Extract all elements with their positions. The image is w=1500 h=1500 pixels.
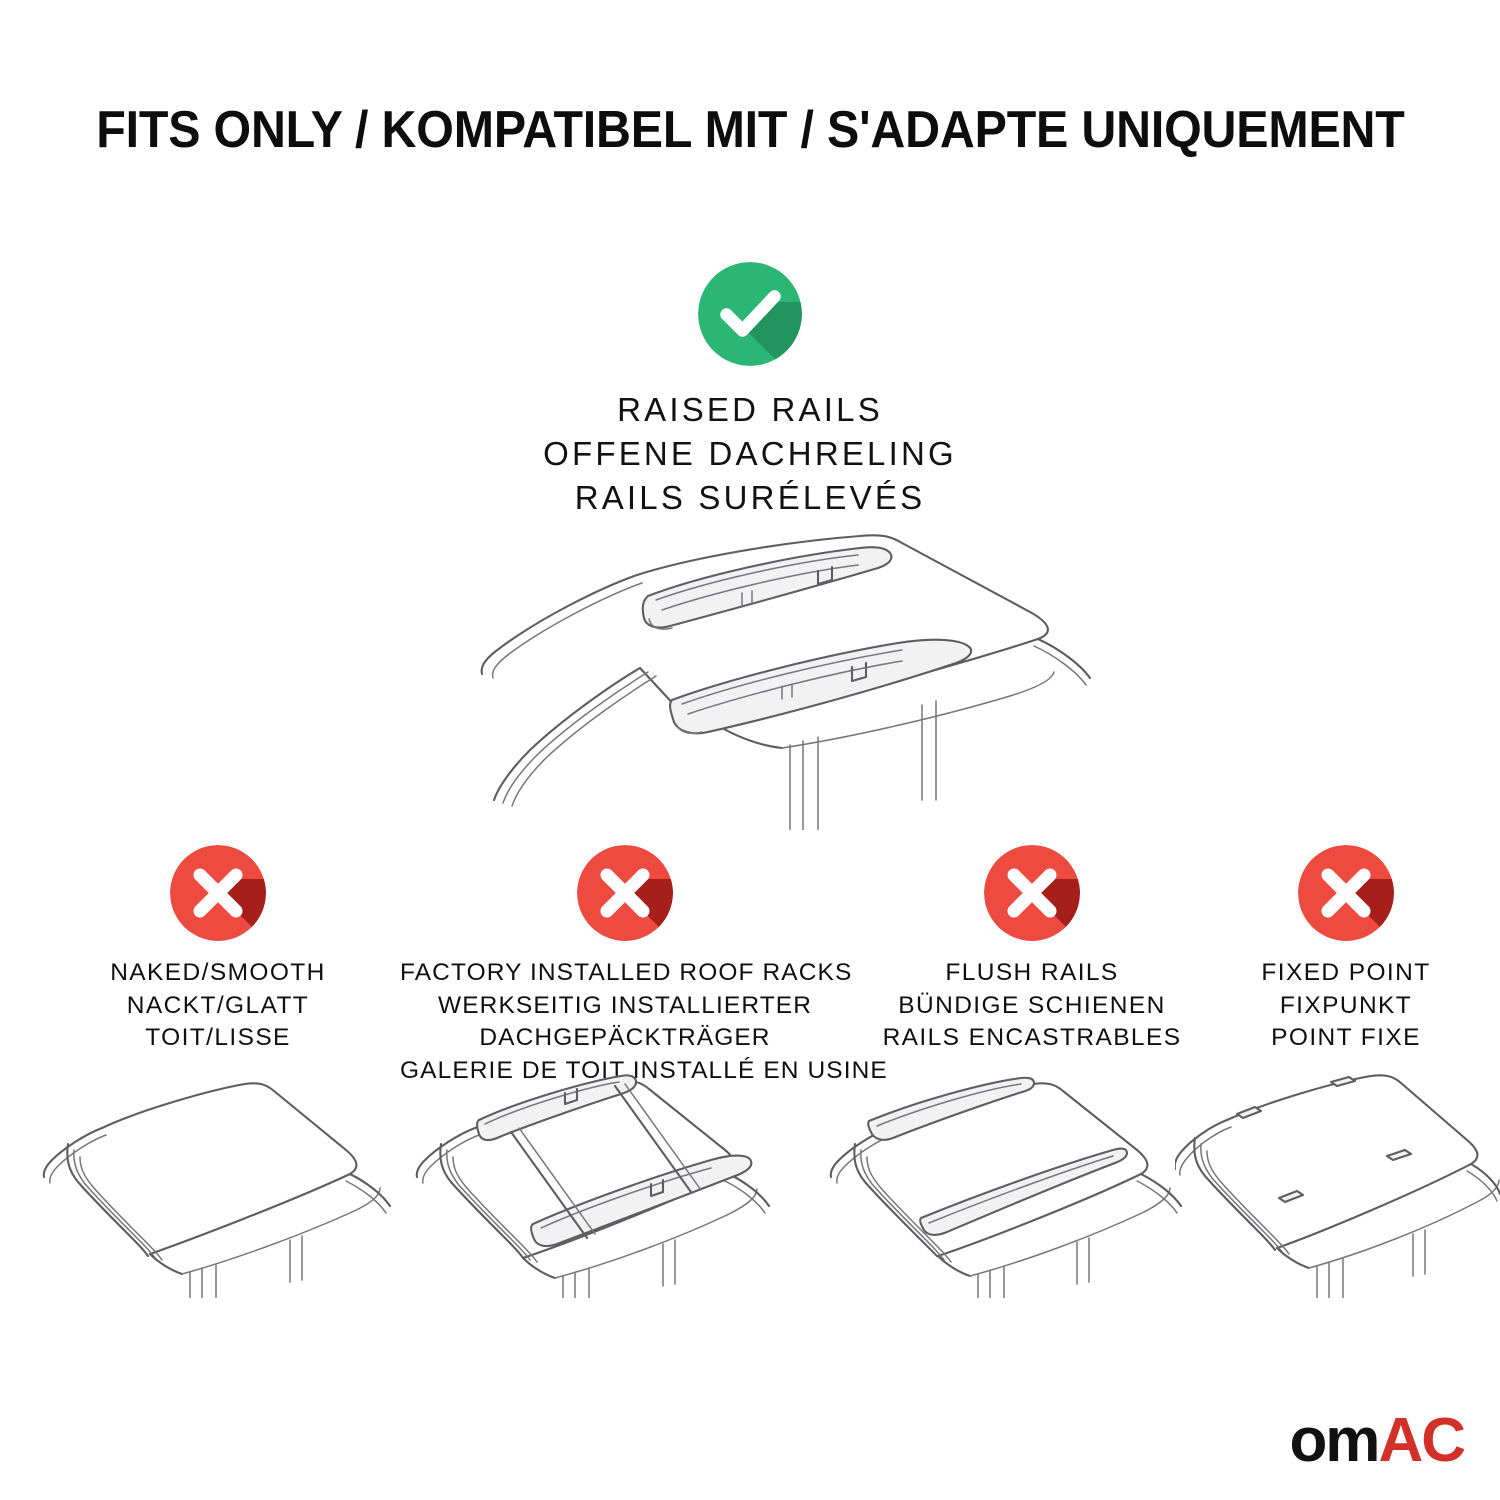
page-title-text: FITS ONLY / KOMPATIBEL MIT / S'ADAPTE UN… <box>96 104 1404 156</box>
car-roof-naked-smooth-illustration <box>40 1058 410 1298</box>
incompatible-illustrations <box>0 1058 1500 1298</box>
car-roof-fixed-point-illustration <box>1175 1058 1500 1298</box>
incompatible-labels: FLUSH RAILS BÜNDIGE SCHIENEN RAILS ENCAS… <box>830 957 1234 1055</box>
label-en: FLUSH RAILS <box>830 957 1234 990</box>
label-fr: RAILS ENCASTRABLES <box>830 1022 1234 1055</box>
incompatible-item-factory-roof-racks: FACTORY INSTALLED ROOF RACKS WERKSEITIG … <box>400 845 850 1087</box>
compatible-label-de: OFFENE DACHRELING <box>0 432 1500 476</box>
label-de-2: DACHGEPÄCKTRÄGER <box>400 1022 850 1055</box>
compatible-section: RAISED RAILS OFFENE DACHRELING RAILS SUR… <box>0 262 1500 520</box>
label-fr: TOIT/LISSE <box>10 1022 426 1055</box>
raised-rails-illustration <box>390 500 1110 830</box>
x-circle-icon <box>1298 845 1394 941</box>
incompatible-item-naked-smooth: NAKED/SMOOTH NACKT/GLATT TOIT/LISSE <box>10 845 426 1055</box>
check-circle-icon <box>698 262 802 366</box>
page-title: FITS ONLY / KOMPATIBEL MIT / S'ADAPTE UN… <box>0 104 1500 156</box>
omac-logo: omAC <box>1289 1410 1464 1472</box>
label-en: FIXED POINT <box>1196 957 1496 990</box>
label-en: NAKED/SMOOTH <box>10 957 426 990</box>
label-de: FIXPUNKT <box>1196 990 1496 1023</box>
label-de: NACKT/GLATT <box>10 990 426 1023</box>
compatible-label-en: RAISED RAILS <box>0 388 1500 432</box>
x-circle-icon <box>170 845 266 941</box>
x-circle-icon <box>984 845 1080 941</box>
label-fr: POINT FIXE <box>1196 1022 1496 1055</box>
logo-text-red: AC <box>1378 1406 1464 1475</box>
label-en: FACTORY INSTALLED ROOF RACKS <box>400 957 850 990</box>
incompatible-item-flush-rails: FLUSH RAILS BÜNDIGE SCHIENEN RAILS ENCAS… <box>830 845 1234 1055</box>
incompatible-labels: FIXED POINT FIXPUNKT POINT FIXE <box>1196 957 1496 1055</box>
incompatible-labels: NAKED/SMOOTH NACKT/GLATT TOIT/LISSE <box>10 957 426 1055</box>
label-de-1: WERKSEITIG INSTALLIERTER <box>400 990 850 1023</box>
car-roof-factory-roof-racks-illustration <box>405 1058 805 1298</box>
label-de: BÜNDIGE SCHIENEN <box>830 990 1234 1023</box>
car-roof-flush-rails-illustration <box>825 1058 1205 1298</box>
logo-text-black: om <box>1289 1406 1378 1475</box>
incompatible-item-fixed-point: FIXED POINT FIXPUNKT POINT FIXE <box>1196 845 1496 1055</box>
x-circle-icon <box>577 845 673 941</box>
